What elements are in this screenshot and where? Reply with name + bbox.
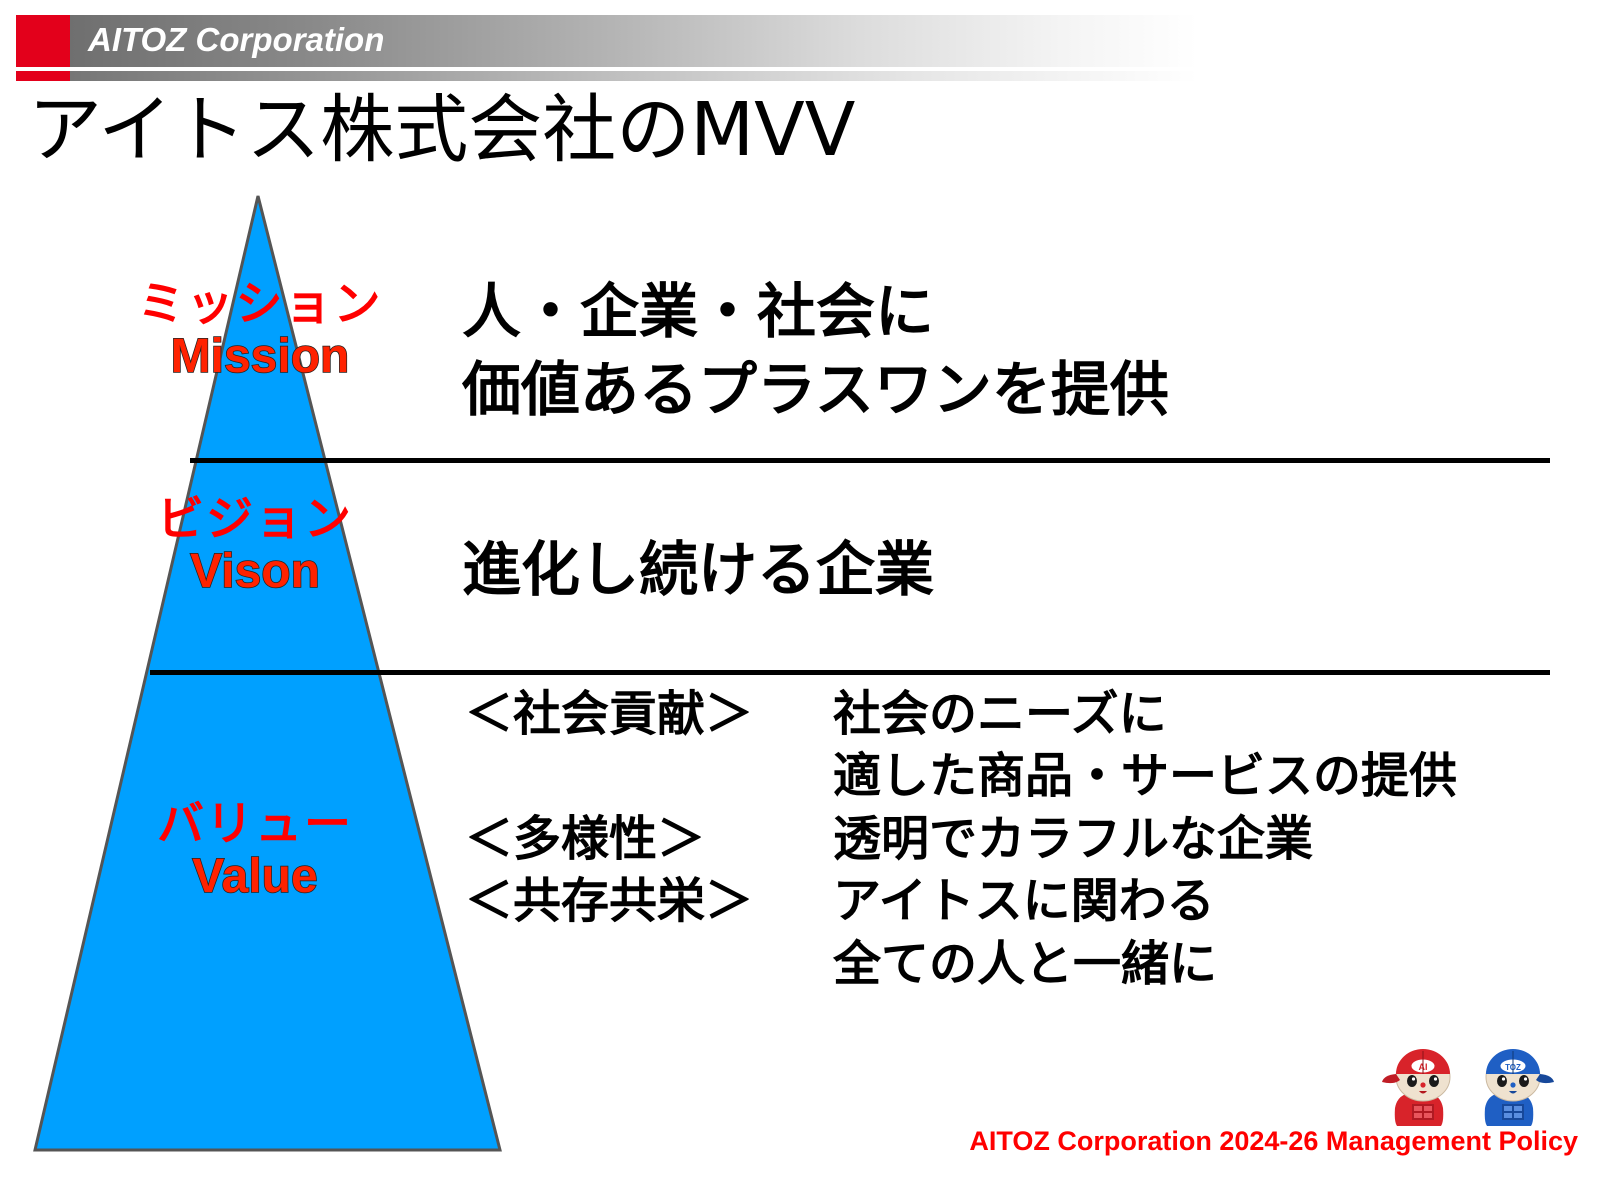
header-red-block [16, 15, 70, 67]
header-red-accent-thin [16, 71, 70, 81]
ai-mascot: AI [1382, 1049, 1450, 1126]
value-row-text: 社会のニーズに 適した商品・サービスの提供 [833, 683, 1565, 808]
aitoz-logo-text: AITOZ Corporation [88, 21, 384, 59]
tier-label-value-jp: バリュー [110, 800, 400, 850]
footer-note: AITOZ Corporation 2024-26 Management Pol… [969, 1126, 1578, 1157]
toz-mascot: TOZ [1485, 1049, 1554, 1126]
value-row-text: 透明でカラフルな企業 [833, 808, 1565, 870]
vision-statement: 進化し続ける企業 [462, 531, 934, 609]
aitoz-logo-label: AITOZ Corporation [88, 21, 384, 58]
mascot-pair: AI TOZ [1378, 1022, 1578, 1128]
value-row-text: アイトスに関わる 全ての人と一緒に [833, 870, 1565, 995]
value-list: ＜社会貢献＞ 社会のニーズに 適した商品・サービスの提供 ＜多様性＞ 透明でカラ… [465, 683, 1565, 995]
divider-mission-vision [190, 458, 1550, 463]
tier-label-value: バリュー Value [110, 800, 400, 903]
slide-canvas: AITOZ Corporation アイトス株式会社のMVV ミッション Mis… [0, 0, 1600, 1201]
tier-label-value-en: Value [110, 852, 400, 903]
header-gradient-bar-thin [70, 71, 1198, 81]
value-row-key: ＜社会貢献＞ [465, 683, 833, 745]
tier-label-mission-en: Mission [100, 332, 420, 383]
page-title: アイトス株式会社のMVV [28, 93, 855, 167]
mission-statement: 人・企業・社会に 価値あるプラスワンを提供 [462, 273, 1169, 429]
value-row: ＜多様性＞ 透明でカラフルな企業 [465, 808, 1565, 870]
value-row: ＜共存共栄＞ アイトスに関わる 全ての人と一緒に [465, 870, 1565, 995]
value-row-key: ＜共存共栄＞ [465, 870, 833, 932]
value-row-key: ＜多様性＞ [465, 808, 833, 870]
tier-label-mission: ミッション Mission [100, 280, 420, 383]
value-row: ＜社会貢献＞ 社会のニーズに 適した商品・サービスの提供 [465, 683, 1565, 808]
tier-label-vision-jp: ビジョン [110, 495, 400, 545]
tier-label-mission-jp: ミッション [100, 280, 420, 330]
tier-label-vision-en: Vison [110, 547, 400, 598]
tier-label-vision: ビジョン Vison [110, 495, 400, 598]
divider-vision-value [150, 670, 1550, 675]
